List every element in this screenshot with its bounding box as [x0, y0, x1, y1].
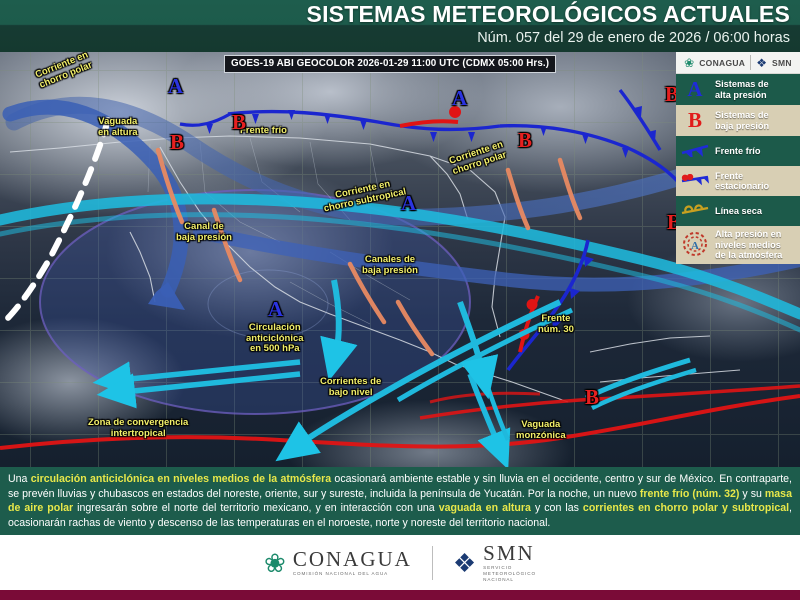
legend-item-label: Sistemas de baja presión	[715, 110, 769, 131]
conagua-emblem-icon: ❀	[264, 550, 286, 576]
page-title: SISTEMAS METEOROLÓGICOS ACTUALES	[307, 1, 790, 28]
pressure-mark-B-caribbean: B	[585, 385, 599, 410]
pressure-mark-A-pacific-mexico: A	[268, 297, 283, 322]
pressure-mark-A-northwest-us: A	[168, 74, 183, 99]
legend-item-4: Línea seca	[676, 196, 800, 226]
pressure-mark-A-gulf-mexico: A	[401, 191, 416, 216]
footer-smn-name: SMN	[483, 541, 535, 565]
legend-item-label: Sistemas de alta presión	[715, 79, 769, 100]
footer-smn-logo: ❖ SMN SERVICIO METEOROLÓGICO NACIONAL	[453, 543, 536, 583]
footer-divider	[432, 546, 433, 580]
legend-symbol-a-icon: A	[680, 77, 710, 102]
bulletin-text-run: y con las	[531, 502, 583, 514]
footer-conagua-sub: COMISIÓN NACIONAL DEL AGUA	[293, 571, 412, 577]
legend-divider	[750, 55, 751, 70]
itcz-line	[0, 396, 800, 448]
footer-color-bar	[0, 590, 800, 600]
bulletin-text-run: ingresarán sobre el norte del territorio…	[73, 502, 439, 514]
legend-item-label: Alta presión en niveles medios de la atm…	[715, 229, 782, 261]
legend-rows: ASistemas de alta presiónBSistemas de ba…	[676, 74, 800, 264]
legend-item-label: Línea seca	[715, 206, 762, 217]
legend-item-3: Frente estacionario	[676, 166, 800, 196]
legend-item-5: AAlta presión en niveles medios de la at…	[676, 226, 800, 264]
bulletin-text: Una circulación anticiclónica en niveles…	[0, 467, 800, 535]
pressure-mark-B-southwest: B	[170, 130, 184, 155]
smn-logo-icon: ❖	[756, 56, 767, 70]
legend-item-1: BSistemas de baja presión	[676, 105, 800, 136]
pressure-mark-B-east-coast: B	[518, 128, 532, 153]
legend-item-0: ASistemas de alta presión	[676, 74, 800, 105]
satellite-banner: GOES-19 ABI GEOCOLOR 2026-01-29 11:00 UT…	[224, 55, 556, 73]
legend-smn-label: SMN	[772, 58, 792, 68]
pressure-mark-B-gulf-coast: B	[232, 110, 246, 135]
footer-smn-sub: SERVICIO METEOROLÓGICO NACIONAL	[483, 565, 536, 583]
conagua-logo-icon: ❀	[684, 56, 694, 70]
legend-conagua-label: CONAGUA	[699, 58, 745, 68]
footer-conagua-name: CONAGUA	[293, 547, 412, 571]
legend-symbol-cold-front-icon	[680, 144, 710, 159]
legend-symbol-b-icon: B	[680, 108, 710, 133]
legend-panel: ❀ CONAGUA ❖ SMN ASistemas de alta presió…	[676, 52, 800, 264]
weather-map-bulletin: SISTEMAS METEOROLÓGICOS ACTUALES Núm. 05…	[0, 0, 800, 600]
svg-text:A: A	[691, 240, 699, 252]
bulletin-highlight: frente frío (núm. 32)	[640, 488, 740, 500]
bulletin-highlight: vaguada en altura	[439, 502, 531, 514]
pressure-mark-A-central-us: A	[452, 86, 467, 111]
legend-symbol-stationary-front-icon	[680, 174, 710, 189]
legend-item-label: Frente frío	[715, 146, 760, 157]
legend-symbol-high-pressure-mid-levels-icon: A	[680, 231, 710, 259]
legend-item-label: Frente estacionario	[715, 171, 769, 192]
footer-conagua-logo: ❀ CONAGUA COMISIÓN NACIONAL DEL AGUA	[264, 549, 412, 577]
smn-emblem-icon: ❖	[453, 550, 476, 576]
bulletin-highlight: circulación anticiclónica en niveles med…	[31, 473, 331, 485]
legend-item-2: Frente frío	[676, 136, 800, 166]
bulletin-text-run: y su	[739, 488, 764, 500]
legend-logo-strip: ❀ CONAGUA ❖ SMN	[676, 52, 800, 74]
legend-symbol-dry-line-icon	[680, 204, 710, 219]
page-footer: ❀ CONAGUA COMISIÓN NACIONAL DEL AGUA ❖ S…	[0, 535, 800, 590]
bulletin-text-run: Una	[8, 473, 31, 485]
bulletin-highlight: corrientes en chorro polar y subtropical	[583, 502, 789, 514]
page-header: SISTEMAS METEOROLÓGICOS ACTUALES Núm. 05…	[0, 0, 800, 52]
page-subtitle: Núm. 057 del 29 de enero de 2026 / 06:00…	[477, 30, 790, 46]
